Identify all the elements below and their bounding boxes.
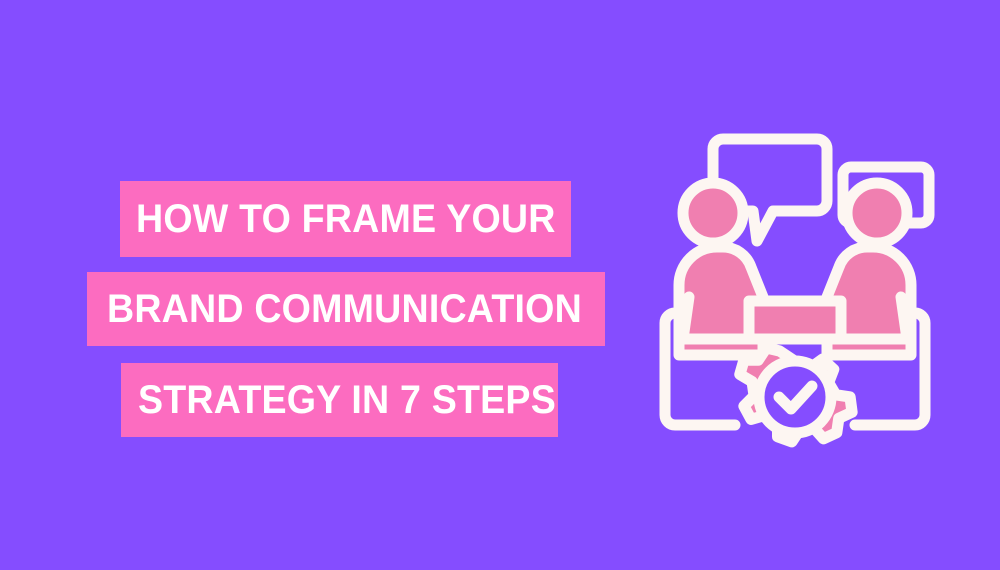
- headline-block: HOW TO FRAME YOUR BRAND COMMUNICATION ST…: [0, 0, 640, 570]
- headline-line-3: STRATEGY IN 7 STEPS: [138, 380, 556, 420]
- business-communication-illustration: [645, 125, 945, 475]
- headline-bar-3: STRATEGY IN 7 STEPS: [121, 363, 558, 437]
- meeting-table: [749, 301, 841, 339]
- headline-line-1: HOW TO FRAME YOUR: [136, 199, 556, 239]
- headline-bar-2: BRAND COMMUNICATION: [87, 272, 605, 346]
- banner-root: HOW TO FRAME YOUR BRAND COMMUNICATION ST…: [0, 0, 1000, 570]
- headline-line-2: BRAND COMMUNICATION: [107, 289, 582, 329]
- headline-bar-1: HOW TO FRAME YOUR: [120, 181, 571, 257]
- gear-icon: [740, 348, 852, 442]
